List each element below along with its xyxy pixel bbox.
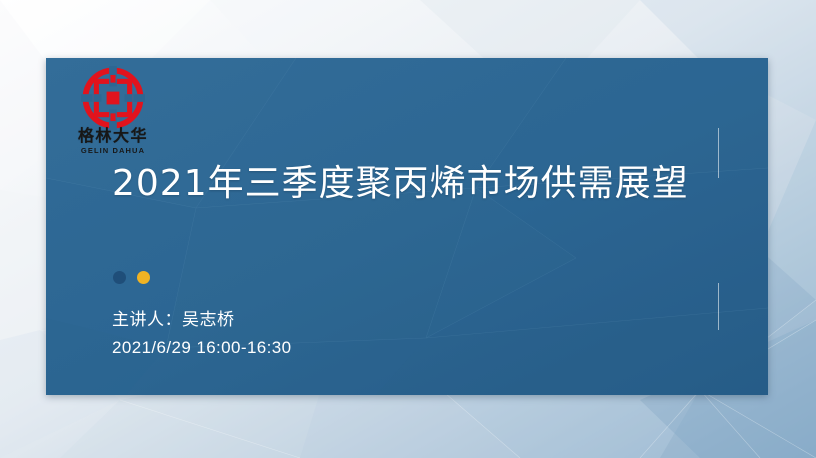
- dot-navy-icon: [113, 271, 126, 284]
- slide-page: 格林大华 GELIN DAHUA 2021年三季度聚丙烯市场供需展望 主讲人：吴…: [0, 0, 816, 458]
- slide-title: 2021年三季度聚丙烯市场供需展望: [112, 154, 689, 206]
- speaker-line: 主讲人：吴志桥: [112, 308, 292, 333]
- accent-rule-bottom: [718, 283, 719, 330]
- brand-logo-block: 格林大华 GELIN DAHUA: [58, 66, 168, 155]
- accent-rule-top: [718, 128, 719, 178]
- gelin-dahua-seal-logo-icon: [81, 66, 145, 130]
- title-slide-panel: 格林大华 GELIN DAHUA 2021年三季度聚丙烯市场供需展望 主讲人：吴…: [46, 58, 768, 395]
- decorative-dots: [113, 271, 150, 284]
- presenter-meta: 主讲人：吴志桥 2021/6/29 16:00-16:30: [112, 308, 292, 360]
- dot-gold-icon: [137, 271, 150, 284]
- brand-name-cn: 格林大华: [58, 128, 168, 145]
- datetime-line: 2021/6/29 16:00-16:30: [112, 336, 292, 361]
